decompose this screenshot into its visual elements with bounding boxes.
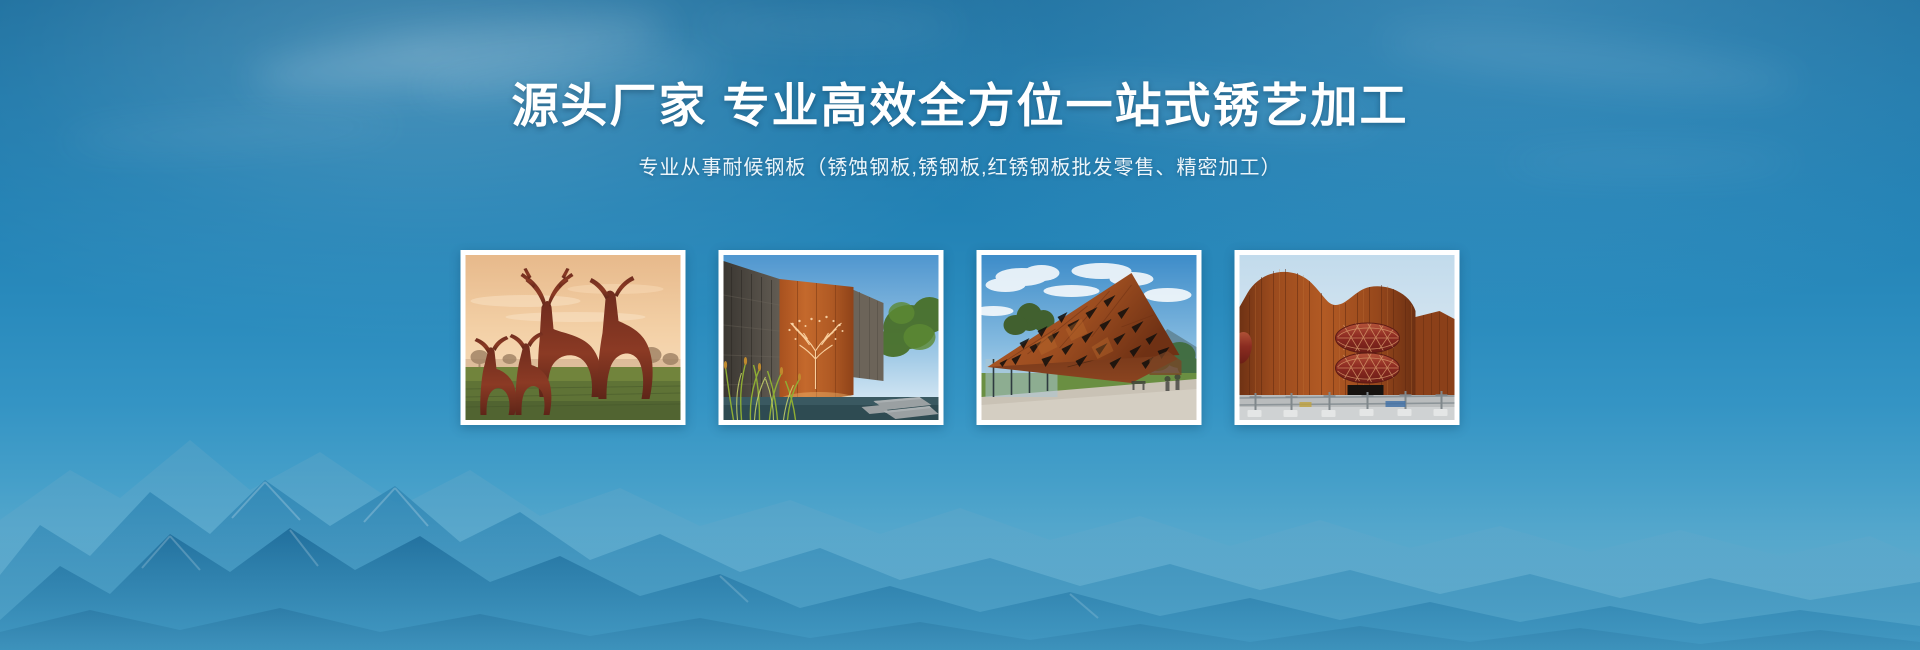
hero-banner: 源头厂家 专业高效全方位一站式锈艺加工 专业从事耐候钢板（锈蚀钢板,锈钢板,红锈… — [0, 0, 1920, 650]
gallery-item-corten-deer-sculptures[interactable] — [461, 250, 686, 425]
thumb-image-frame — [982, 255, 1197, 420]
thumb-image-frame — [466, 255, 681, 420]
corten-curved-facade-building-illustration — [1240, 255, 1455, 420]
gallery-item-corten-curved-facade-building[interactable] — [1235, 250, 1460, 425]
thumb-image-frame — [1240, 255, 1455, 420]
corten-tree-screen-wall-illustration — [724, 255, 939, 420]
gallery-item-corten-tree-screen-wall[interactable] — [719, 250, 944, 425]
product-gallery — [461, 250, 1460, 425]
gallery-item-corten-triangular-pavilion[interactable] — [977, 250, 1202, 425]
banner-headline: 源头厂家 专业高效全方位一站式锈艺加工 — [0, 78, 1920, 133]
corten-deer-sculptures-illustration — [466, 255, 681, 420]
thumb-image-frame — [724, 255, 939, 420]
corten-triangular-pavilion-illustration — [982, 255, 1197, 420]
banner-copy: 源头厂家 专业高效全方位一站式锈艺加工 专业从事耐候钢板（锈蚀钢板,锈钢板,红锈… — [0, 78, 1920, 181]
banner-subline: 专业从事耐候钢板（锈蚀钢板,锈钢板,红锈钢板批发零售、精密加工） — [0, 155, 1920, 181]
